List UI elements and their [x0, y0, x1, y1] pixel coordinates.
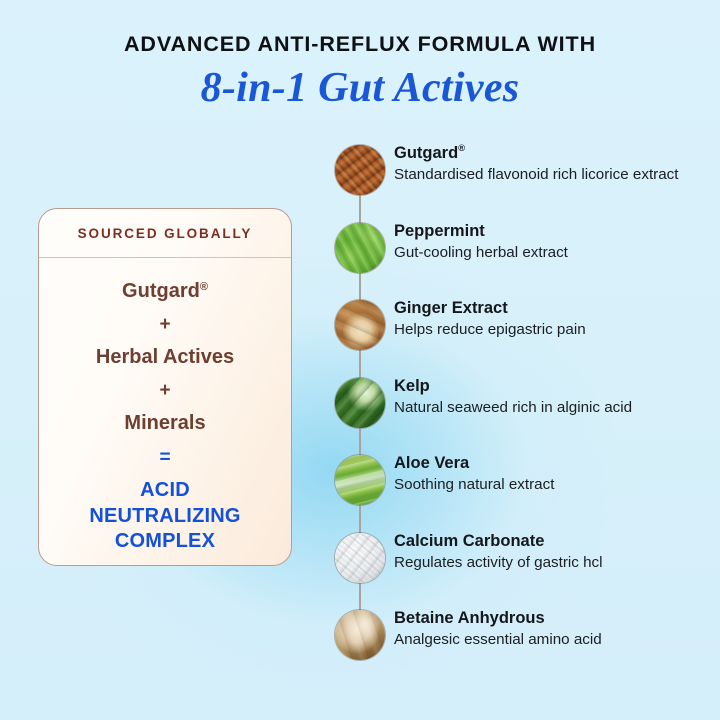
ingredient-text: Betaine Anhydrous Analgesic essential am…: [394, 608, 705, 651]
ingredient-text: Calcium Carbonate Regulates activity of …: [394, 531, 705, 574]
ingredient-list: Gutgard® Standardised flavonoid rich lic…: [335, 145, 705, 688]
card-header: SOURCED GLOBALLY: [39, 209, 291, 258]
list-item: Betaine Anhydrous Analgesic essential am…: [335, 610, 705, 688]
sourced-globally-card: SOURCED GLOBALLY Gutgard® + Herbal Activ…: [38, 208, 292, 566]
ingredient-name: Kelp: [394, 376, 705, 397]
list-item: Aloe Vera Soothing natural extract: [335, 455, 705, 533]
betaine-crystal-icon: [335, 610, 385, 660]
ingredient-text: Aloe Vera Soothing natural extract: [394, 453, 705, 496]
ingredient-name: Aloe Vera: [394, 453, 705, 474]
infographic-page: ADVANCED ANTI-REFLUX FORMULA WITH 8-in-1…: [0, 0, 720, 720]
ingredient-description: Helps reduce epigastric pain: [394, 320, 705, 340]
formula-term-herbal-actives: Herbal Actives: [39, 345, 291, 369]
ingredient-description: Standardised flavonoid rich licorice ext…: [394, 165, 705, 185]
sourced-globally-badge: SOURCED GLOBALLY: [78, 226, 253, 241]
formula-term-minerals: Minerals: [39, 411, 291, 435]
header-block: ADVANCED ANTI-REFLUX FORMULA WITH 8-in-1…: [0, 0, 720, 111]
ingredient-name: Calcium Carbonate: [394, 531, 705, 552]
formula-term-gutgard-label: Gutgard: [122, 280, 200, 302]
list-item: Gutgard® Standardised flavonoid rich lic…: [335, 145, 705, 223]
kelp-seaweed-icon: [335, 378, 385, 428]
ingredient-text: Kelp Natural seaweed rich in alginic aci…: [394, 376, 705, 419]
ingredient-description: Analgesic essential amino acid: [394, 630, 705, 650]
licorice-sticks-icon: [335, 145, 385, 195]
ingredient-name: Gutgard®: [394, 143, 705, 164]
ingredient-description: Natural seaweed rich in alginic acid: [394, 398, 705, 418]
formula-operator-equals: =: [39, 448, 291, 467]
calcium-powder-icon: [335, 533, 385, 583]
formula-term-gutgard: Gutgard®: [39, 279, 291, 303]
ginger-root-icon: [335, 300, 385, 350]
formula-result-line-3: COMPLEX: [39, 529, 291, 555]
formula-operator-plus-2: +: [39, 381, 291, 400]
formula-result: ACID NEUTRALIZING COMPLEX: [39, 478, 291, 555]
ingredient-text: Peppermint Gut-cooling herbal extract: [394, 221, 705, 264]
ingredient-name-label: Gutgard: [394, 144, 458, 162]
formula-result-line-1: ACID: [39, 478, 291, 504]
registered-mark-icon: ®: [200, 281, 208, 293]
peppermint-leaves-icon: [335, 223, 385, 273]
formula-stack: Gutgard® + Herbal Actives + Minerals = A…: [39, 258, 291, 555]
ingredient-description: Regulates activity of gastric hcl: [394, 553, 705, 573]
ingredient-description: Soothing natural extract: [394, 475, 705, 495]
list-item: Ginger Extract Helps reduce epigastric p…: [335, 300, 705, 378]
headline-text: 8-in-1 Gut Actives: [0, 66, 720, 111]
formula-operator-plus-1: +: [39, 315, 291, 334]
ingredient-name: Peppermint: [394, 221, 705, 242]
registered-mark-icon: ®: [458, 143, 465, 154]
list-item: Peppermint Gut-cooling herbal extract: [335, 223, 705, 301]
ingredient-text: Gutgard® Standardised flavonoid rich lic…: [394, 143, 705, 186]
list-item: Kelp Natural seaweed rich in alginic aci…: [335, 378, 705, 456]
eyebrow-text: ADVANCED ANTI-REFLUX FORMULA WITH: [0, 33, 720, 57]
ingredient-description: Gut-cooling herbal extract: [394, 243, 705, 263]
formula-result-line-2: NEUTRALIZING: [39, 504, 291, 530]
ingredient-name: Ginger Extract: [394, 298, 705, 319]
list-item: Calcium Carbonate Regulates activity of …: [335, 533, 705, 611]
ingredient-text: Ginger Extract Helps reduce epigastric p…: [394, 298, 705, 341]
ingredient-name: Betaine Anhydrous: [394, 608, 705, 629]
aloe-vera-leaf-icon: [335, 455, 385, 505]
